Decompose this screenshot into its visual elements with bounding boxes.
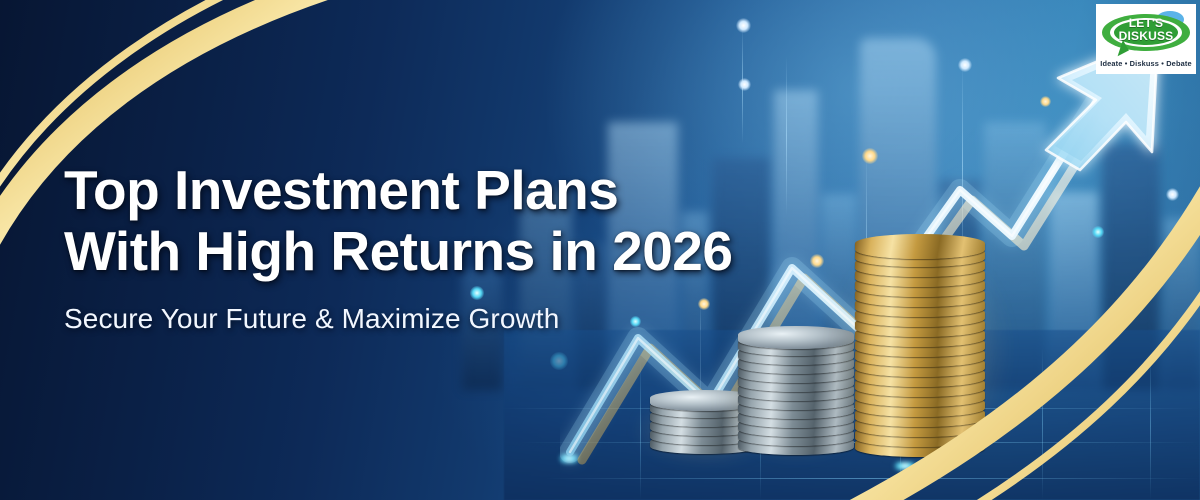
headline-line-2: With High Returns in 2026 bbox=[64, 221, 944, 282]
logo-word-line-2: DISKUSS bbox=[1100, 30, 1192, 43]
lets-diskuss-logo[interactable]: LET'S DISKUSS Ideate • Diskuss • Debate bbox=[1096, 4, 1196, 74]
headline-line-1: Top Investment Plans bbox=[64, 159, 618, 221]
logo-wordmark: LET'S DISKUSS bbox=[1100, 17, 1192, 42]
page-subtitle: Secure Your Future & Maximize Growth bbox=[64, 303, 944, 335]
logo-speech-bubble-icon: LET'S DISKUSS bbox=[1100, 10, 1192, 58]
investment-banner: Top Investment Plans With High Returns i… bbox=[0, 0, 1200, 500]
page-title: Top Investment Plans With High Returns i… bbox=[64, 160, 944, 281]
logo-tagline: Ideate • Diskuss • Debate bbox=[1100, 59, 1192, 68]
headline-block: Top Investment Plans With High Returns i… bbox=[64, 160, 944, 335]
logo-word-line-1: LET'S bbox=[1100, 17, 1192, 30]
